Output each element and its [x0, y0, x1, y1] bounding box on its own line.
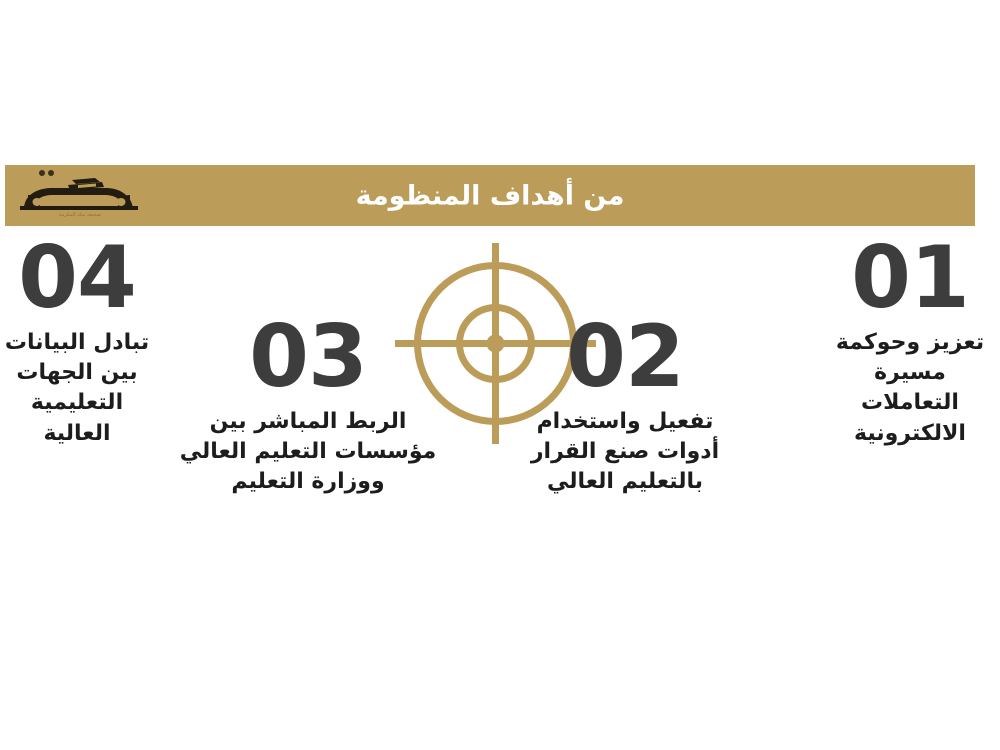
- goal-item-04: 04 تبادل البيانات بين الجهات التعليمية ا…: [2, 243, 152, 449]
- logo-dots-icon: [32, 170, 54, 177]
- goal-number-04: 04: [2, 243, 152, 314]
- makkah-logo: صحيفة مكة المكرمة: [20, 170, 138, 222]
- goal-text-04: تبادل البيانات بين الجهات التعليمية العا…: [2, 328, 152, 449]
- goal-text-02: تفعيل واستخدام أدوات صنع القرار بالتعليم…: [520, 407, 730, 498]
- header-bar: من أهداف المنظومة: [5, 165, 975, 226]
- goal-item-03: 03 الربط المباشر بين مؤسسات التعليم العا…: [168, 322, 448, 498]
- goal-item-01: 01 تعزيز وحوكمة مسيرة التعاملات الالكترو…: [830, 243, 990, 449]
- page-title: من أهداف المنظومة: [5, 182, 975, 209]
- goal-number-02: 02: [520, 322, 730, 393]
- goal-number-03: 03: [168, 322, 448, 393]
- infographic-root: من أهداف المنظومة صحيفة مكة المكرمة: [0, 0, 1000, 750]
- logo-subtitle: صحيفة مكة المكرمة: [22, 211, 138, 220]
- goal-number-01: 01: [830, 243, 990, 314]
- goal-item-02: 02 تفعيل واستخدام أدوات صنع القرار بالتع…: [520, 322, 730, 498]
- goal-text-03: الربط المباشر بين مؤسسات التعليم العالي …: [168, 407, 448, 498]
- makkah-wordmark-icon: [20, 177, 138, 210]
- goal-text-01: تعزيز وحوكمة مسيرة التعاملات الالكترونية: [830, 328, 990, 449]
